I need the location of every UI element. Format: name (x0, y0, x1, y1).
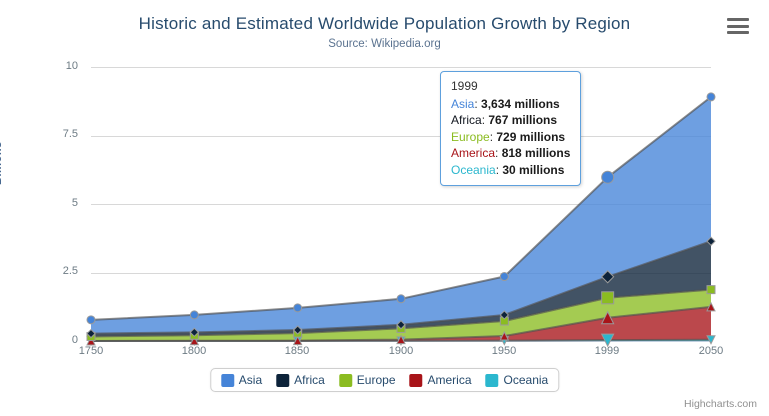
y-tick-label-7.5: 7.5 (20, 128, 78, 140)
tooltip-header: 1999 (451, 78, 570, 96)
highcharts-container: Historic and Estimated Worldwide Populat… (0, 0, 769, 416)
legend-swatch-africa (276, 374, 289, 387)
tooltip-row-america: America: 818 millions (451, 145, 570, 162)
tooltip-row-asia: Asia: 3,634 millions (451, 96, 570, 113)
x-tick-label-1850: 1850 (262, 345, 332, 357)
legend-item-asia[interactable]: Asia (221, 373, 262, 387)
tooltip-row-africa: Africa: 767 millions (451, 112, 570, 129)
hamburger-bar-2 (727, 25, 749, 28)
tooltip-row-oceania: Oceania: 30 millions (451, 162, 570, 179)
legend-swatch-oceania (486, 374, 499, 387)
tooltip-series-value-america: 818 millions (502, 146, 571, 160)
tooltip: 1999 Asia: 3,634 millions Africa: 767 mi… (440, 71, 581, 186)
legend: Asia Africa Europe America Oceania (210, 368, 559, 392)
plot-area (91, 67, 711, 341)
y-tick-label-5: 5 (20, 197, 78, 209)
tooltip-series-value-oceania: 30 millions (502, 163, 564, 177)
legend-label-america: America (428, 373, 472, 387)
legend-item-america[interactable]: America (410, 373, 472, 387)
x-tick-label-1950: 1950 (469, 345, 539, 357)
legend-swatch-america (410, 374, 423, 387)
y-tick-label-10: 10 (20, 60, 78, 72)
chart-title: Historic and Estimated Worldwide Populat… (0, 14, 769, 34)
legend-label-europe: Europe (357, 373, 396, 387)
x-tick-label-2050: 2050 (676, 345, 746, 357)
tooltip-series-value-africa: 767 millions (488, 113, 557, 127)
x-tick-label-1900: 1900 (366, 345, 436, 357)
legend-swatch-europe (339, 374, 352, 387)
y-axis-title: Billions (0, 141, 4, 185)
legend-item-europe[interactable]: Europe (339, 373, 396, 387)
tooltip-series-name-oceania: Oceania (451, 163, 496, 177)
tooltip-series-name-africa: Africa (451, 113, 482, 127)
tooltip-row-europe: Europe: 729 millions (451, 129, 570, 146)
legend-label-asia: Asia (239, 373, 262, 387)
tooltip-series-value-europe: 729 millions (496, 130, 565, 144)
x-tick-label-1750: 1750 (56, 345, 126, 357)
x-tick-label-1999: 1999 (572, 345, 642, 357)
legend-label-oceania: Oceania (504, 373, 549, 387)
legend-swatch-asia (221, 374, 234, 387)
credits-link[interactable]: Highcharts.com (684, 398, 757, 410)
hamburger-menu-icon[interactable] (727, 16, 749, 36)
legend-label-africa: Africa (294, 373, 325, 387)
tooltip-series-value-asia: 3,634 millions (481, 97, 560, 111)
legend-item-oceania[interactable]: Oceania (486, 373, 549, 387)
chart-subtitle: Source: Wikipedia.org (0, 38, 769, 50)
series-plot (91, 67, 711, 341)
tooltip-series-name-america: America (451, 146, 495, 160)
tooltip-series-name-europe: Europe (451, 130, 490, 144)
tooltip-series-name-asia: Asia (451, 97, 474, 111)
hamburger-bar-3 (727, 31, 749, 34)
hamburger-bar-1 (727, 18, 749, 21)
legend-item-africa[interactable]: Africa (276, 373, 325, 387)
y-tick-label-2.5: 2.5 (20, 265, 78, 277)
x-tick-label-1800: 1800 (159, 345, 229, 357)
